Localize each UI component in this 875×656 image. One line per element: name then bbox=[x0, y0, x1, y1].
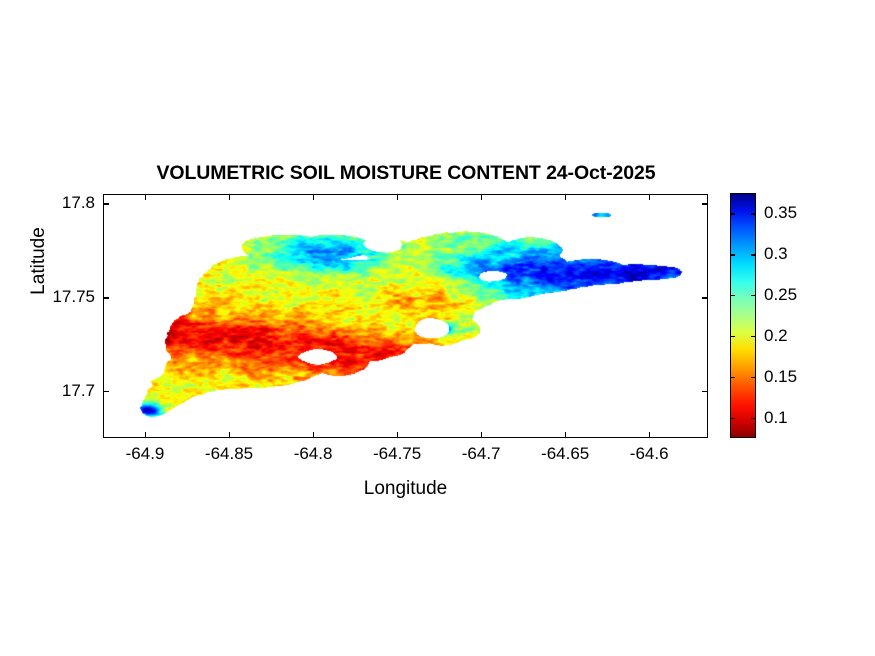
colorbar-tick bbox=[751, 418, 756, 419]
x-axis-tick bbox=[397, 432, 398, 438]
x-axis-tick bbox=[649, 194, 650, 200]
map-axes[interactable] bbox=[103, 194, 708, 438]
x-axis-tick-label: -64.8 bbox=[294, 444, 333, 464]
colorbar-tick bbox=[751, 377, 756, 378]
y-axis-tick-label: 17.7 bbox=[62, 381, 95, 401]
x-axis-tick bbox=[313, 194, 314, 200]
page-title: VOLUMETRIC SOIL MOISTURE CONTENT 24-Oct-… bbox=[103, 162, 709, 185]
colorbar[interactable] bbox=[730, 193, 756, 438]
x-axis-tick bbox=[565, 194, 566, 200]
y-axis-tick bbox=[702, 391, 708, 392]
x-axis-tick-label: -64.6 bbox=[630, 444, 669, 464]
colorbar-tick bbox=[751, 336, 756, 337]
y-axis-tick bbox=[702, 297, 708, 298]
colorbar-tick-label: 0.35 bbox=[764, 203, 797, 223]
x-axis-tick bbox=[649, 432, 650, 438]
colorbar-tick bbox=[730, 213, 735, 214]
colorbar-tick-label: 0.2 bbox=[764, 326, 788, 346]
x-axis-tick-label: -64.65 bbox=[541, 444, 589, 464]
colorbar-tick bbox=[730, 336, 735, 337]
x-axis-tick-label: -64.7 bbox=[462, 444, 501, 464]
y-axis-tick-label: 17.8 bbox=[62, 193, 95, 213]
colorbar-tick bbox=[730, 254, 735, 255]
y-axis-tick bbox=[103, 297, 109, 298]
colorbar-tick bbox=[751, 254, 756, 255]
colorbar-tick bbox=[751, 295, 756, 296]
x-axis-tick bbox=[229, 432, 230, 438]
x-axis-tick-label: -64.75 bbox=[373, 444, 421, 464]
soil-moisture-heatmap bbox=[104, 195, 708, 438]
colorbar-tick bbox=[751, 213, 756, 214]
x-axis-tick bbox=[397, 194, 398, 200]
x-axis-tick-label: -64.9 bbox=[126, 444, 165, 464]
colorbar-tick-label: 0.25 bbox=[764, 285, 797, 305]
figure-canvas: VOLUMETRIC SOIL MOISTURE CONTENT 24-Oct-… bbox=[0, 0, 875, 656]
x-axis-tick bbox=[481, 194, 482, 200]
colorbar-tick bbox=[730, 295, 735, 296]
x-axis-tick-label: -64.85 bbox=[205, 444, 253, 464]
colorbar-tick bbox=[730, 418, 735, 419]
x-axis-tick bbox=[565, 432, 566, 438]
colorbar-tick-label: 0.1 bbox=[764, 408, 788, 428]
x-axis-tick bbox=[229, 194, 230, 200]
x-axis-tick bbox=[481, 432, 482, 438]
y-axis-tick bbox=[103, 203, 109, 204]
x-axis-tick bbox=[145, 194, 146, 200]
colorbar-tick-label: 0.3 bbox=[764, 244, 788, 264]
x-axis-label: Longitude bbox=[103, 478, 708, 500]
y-axis-label: Latitude bbox=[28, 196, 50, 326]
y-axis-tick bbox=[702, 203, 708, 204]
y-axis-tick bbox=[103, 391, 109, 392]
x-axis-tick bbox=[145, 432, 146, 438]
colorbar-tick bbox=[730, 377, 735, 378]
y-axis-tick-label: 17.75 bbox=[52, 287, 95, 307]
x-axis-tick bbox=[313, 432, 314, 438]
colorbar-tick-label: 0.15 bbox=[764, 367, 797, 387]
